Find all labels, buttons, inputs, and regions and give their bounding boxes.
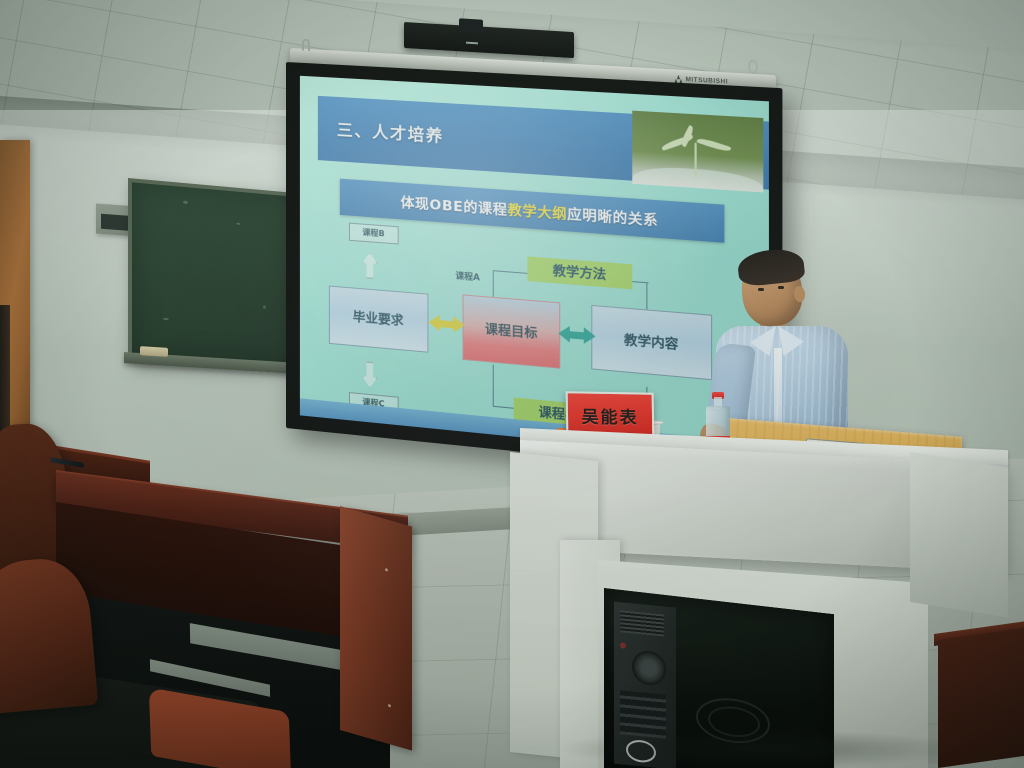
box-teaching-methods: 教学方法 bbox=[527, 256, 631, 289]
subtitle-text-after: 应明晰的关系 bbox=[567, 206, 658, 229]
pc-fan-icon bbox=[632, 649, 666, 686]
arrow-down-outline-icon bbox=[362, 361, 377, 389]
roller-hook-left-icon bbox=[302, 39, 310, 51]
soundbar-led-icon bbox=[466, 42, 478, 45]
double-arrow-yellow-icon bbox=[428, 314, 465, 335]
soundbar-mount bbox=[459, 18, 483, 31]
classroom-photo-scene: MITSUBISHI 三、人才培养 体现OBE的 bbox=[0, 0, 1024, 768]
box-graduation-requirements: 毕业要求 bbox=[329, 285, 428, 352]
door-frame[interactable] bbox=[0, 140, 30, 470]
sprout-leaf-icon bbox=[697, 137, 732, 154]
subtitle-text-highlight: 教学大纲 bbox=[508, 202, 568, 223]
placard-name-text: 吴能表 bbox=[581, 402, 638, 428]
snow-ground bbox=[632, 165, 763, 193]
presenter-eye bbox=[758, 288, 764, 291]
pc-vent-grille-icon bbox=[620, 610, 664, 636]
podium-right-panel bbox=[910, 452, 1008, 618]
sprout-stem-icon bbox=[694, 142, 697, 176]
presentation-slide: 三、人才培养 体现OBE的课程教学大纲应明晰的关系 bbox=[300, 76, 769, 462]
subtitle-text-before: 体现OBE的课程 bbox=[401, 195, 508, 219]
blackboard bbox=[128, 178, 302, 369]
tag-course-a: 课程A bbox=[455, 269, 480, 283]
box-course-objectives: 课程目标 bbox=[462, 294, 560, 368]
box-teaching-content: 教学内容 bbox=[591, 305, 712, 380]
pc-power-led-icon bbox=[620, 642, 626, 649]
arrow-up-outline-icon bbox=[362, 252, 377, 279]
slide-section-title: 三、人才培养 bbox=[337, 116, 444, 147]
presenter-eye bbox=[778, 286, 784, 289]
roller-hook-right-icon bbox=[748, 60, 758, 75]
right-desk[interactable] bbox=[938, 627, 1024, 768]
connector-line bbox=[492, 365, 493, 406]
podium-floor-shadow bbox=[560, 730, 960, 768]
tag-course-b: 课程B bbox=[349, 223, 399, 245]
desk-side-panel bbox=[340, 506, 412, 751]
seedling-photo bbox=[632, 111, 763, 192]
slide-header-band: 三、人才培养 bbox=[318, 95, 769, 189]
chalkboard-eraser[interactable] bbox=[140, 346, 168, 357]
double-arrow-teal-icon bbox=[558, 325, 596, 346]
